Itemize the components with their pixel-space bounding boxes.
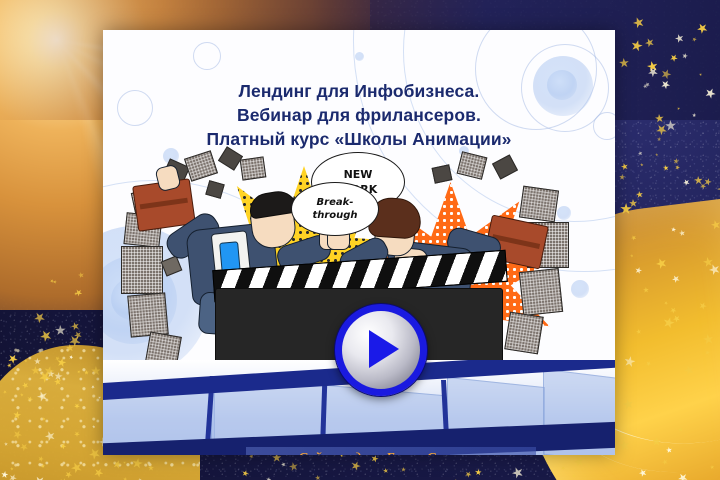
credit-banner: Сайт создала Елена Сахарова — [246, 447, 536, 455]
promo-poster: Лендинг для Инфобизнеса. Вебинар для фри… — [0, 0, 720, 480]
title-line-1: Лендинг для Инфобизнеса. — [103, 79, 615, 103]
play-triangle-icon — [369, 330, 399, 368]
wall-debris — [205, 180, 225, 199]
wall-chunk — [121, 246, 163, 294]
wall-chunk — [504, 312, 544, 355]
wall-chunk — [127, 292, 169, 337]
bokeh-circle — [193, 42, 221, 70]
wall-debris — [218, 146, 243, 170]
wall-chunk — [240, 156, 267, 180]
bubble-right-line-2: through — [312, 210, 357, 221]
bubble-left-line-1: NEW — [344, 168, 373, 181]
wall-chunk — [457, 151, 488, 180]
play-button[interactable] — [335, 304, 427, 396]
wall-chunk — [519, 268, 563, 316]
white-content-card: Лендинг для Инфобизнеса. Вебинар для фри… — [103, 30, 615, 455]
wall-chunk — [519, 186, 559, 223]
speech-bubble-breakthrough: Break- through — [291, 182, 379, 236]
bubble-right-line-1: Break- — [317, 197, 354, 208]
page-title: Лендинг для Инфобизнеса. Вебинар для фри… — [103, 79, 615, 151]
wall-debris — [432, 164, 453, 183]
wall-chunk — [184, 150, 218, 181]
title-line-2: Вебинар для фрилансеров. — [103, 103, 615, 127]
wall-debris — [492, 154, 518, 179]
